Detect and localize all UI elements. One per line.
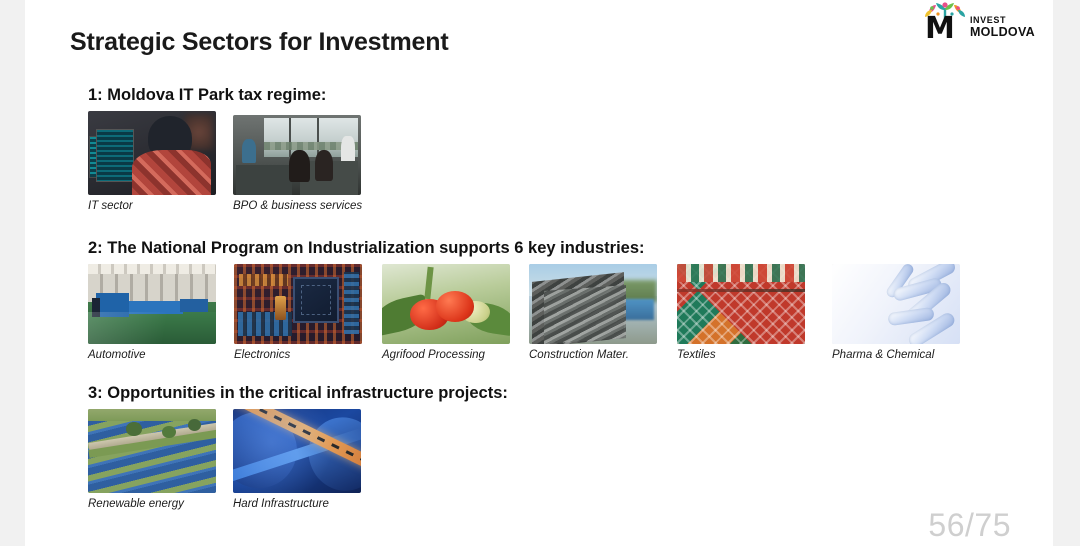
logo-wordmark-moldova: MOLDOVA	[970, 26, 1035, 39]
thumbnail-caption: Electronics	[234, 349, 362, 361]
thumbnail-caption: Textiles	[677, 349, 805, 361]
thumbnail-caption: Hard Infrastructure	[233, 498, 361, 510]
thumbnail-caption: Renewable energy	[88, 498, 216, 510]
thumbnail-item-agrifood[interactable]: Agrifood Processing	[382, 264, 510, 361]
thumbnail-row: IT sector BPO & business services	[88, 111, 326, 211]
logo-letter-m: M	[925, 16, 954, 42]
logo-wordmark: INVEST MOLDOVA	[970, 16, 1035, 39]
thumbnail-image-construction[interactable]	[529, 264, 657, 344]
thumbnail-image-textiles[interactable]	[677, 264, 805, 344]
slide-viewer: M INVEST MOLDOVA Strategic Sectors for I…	[0, 0, 1080, 546]
page-title: Strategic Sectors for Investment	[70, 28, 448, 57]
thumbnail-caption: BPO & business services	[233, 200, 362, 212]
section-heading: 3: Opportunities in the critical infrast…	[88, 384, 508, 403]
thumbnail-image-it-sector[interactable]	[88, 111, 216, 195]
section-heading: 2: The National Program on Industrializa…	[88, 239, 645, 258]
thumbnail-item-it-sector[interactable]: IT sector	[88, 111, 216, 212]
thumbnail-caption: Automotive	[88, 349, 216, 361]
slide-canvas: M INVEST MOLDOVA Strategic Sectors for I…	[25, 0, 1053, 546]
section-infrastructure: 3: Opportunities in the critical infrast…	[88, 384, 508, 509]
thumbnail-image-automotive[interactable]	[88, 264, 216, 344]
thumbnail-item-electronics[interactable]: Electronics	[234, 264, 362, 361]
thumbnail-caption: Construction Mater.	[529, 349, 657, 361]
thumbnail-image-electronics[interactable]	[234, 264, 362, 344]
thumbnail-item-construction[interactable]: Construction Mater.	[529, 264, 657, 361]
thumbnail-item-bpo[interactable]: BPO & business services	[233, 111, 362, 212]
thumbnail-item-automotive[interactable]: Automotive	[88, 264, 216, 361]
thumbnail-item-textiles[interactable]: Textiles	[677, 264, 805, 361]
thumbnail-image-agrifood[interactable]	[382, 264, 510, 344]
page-indicator: 56/75	[928, 507, 1011, 544]
invest-moldova-logo: M INVEST MOLDOVA	[923, 2, 1035, 42]
thumbnail-caption: Pharma & Chemical	[832, 349, 960, 361]
logo-mark: M	[923, 2, 967, 42]
thumbnail-image-pharma[interactable]	[832, 264, 960, 344]
thumbnail-caption: Agrifood Processing	[382, 349, 510, 361]
thumbnail-item-renewable[interactable]: Renewable energy	[88, 409, 216, 510]
thumbnail-image-bpo[interactable]	[233, 115, 361, 195]
thumbnail-caption: IT sector	[88, 200, 216, 212]
section-it-park: 1: Moldova IT Park tax regime: IT sector	[88, 86, 326, 211]
thumbnail-image-hard-infrastructure[interactable]	[233, 409, 361, 493]
section-heading: 1: Moldova IT Park tax regime:	[88, 86, 326, 105]
thumbnail-row: Renewable energy Hard Infrastructure	[88, 409, 508, 509]
thumbnail-item-hard-infrastructure[interactable]: Hard Infrastructure	[233, 409, 361, 510]
section-industrialization: 2: The National Program on Industrializa…	[88, 239, 645, 364]
thumbnail-image-renewable[interactable]	[88, 409, 216, 493]
thumbnail-item-pharma[interactable]: Pharma & Chemical	[832, 264, 960, 361]
thumbnail-row: Automotive Electronics Agrifood Processi…	[88, 264, 645, 364]
